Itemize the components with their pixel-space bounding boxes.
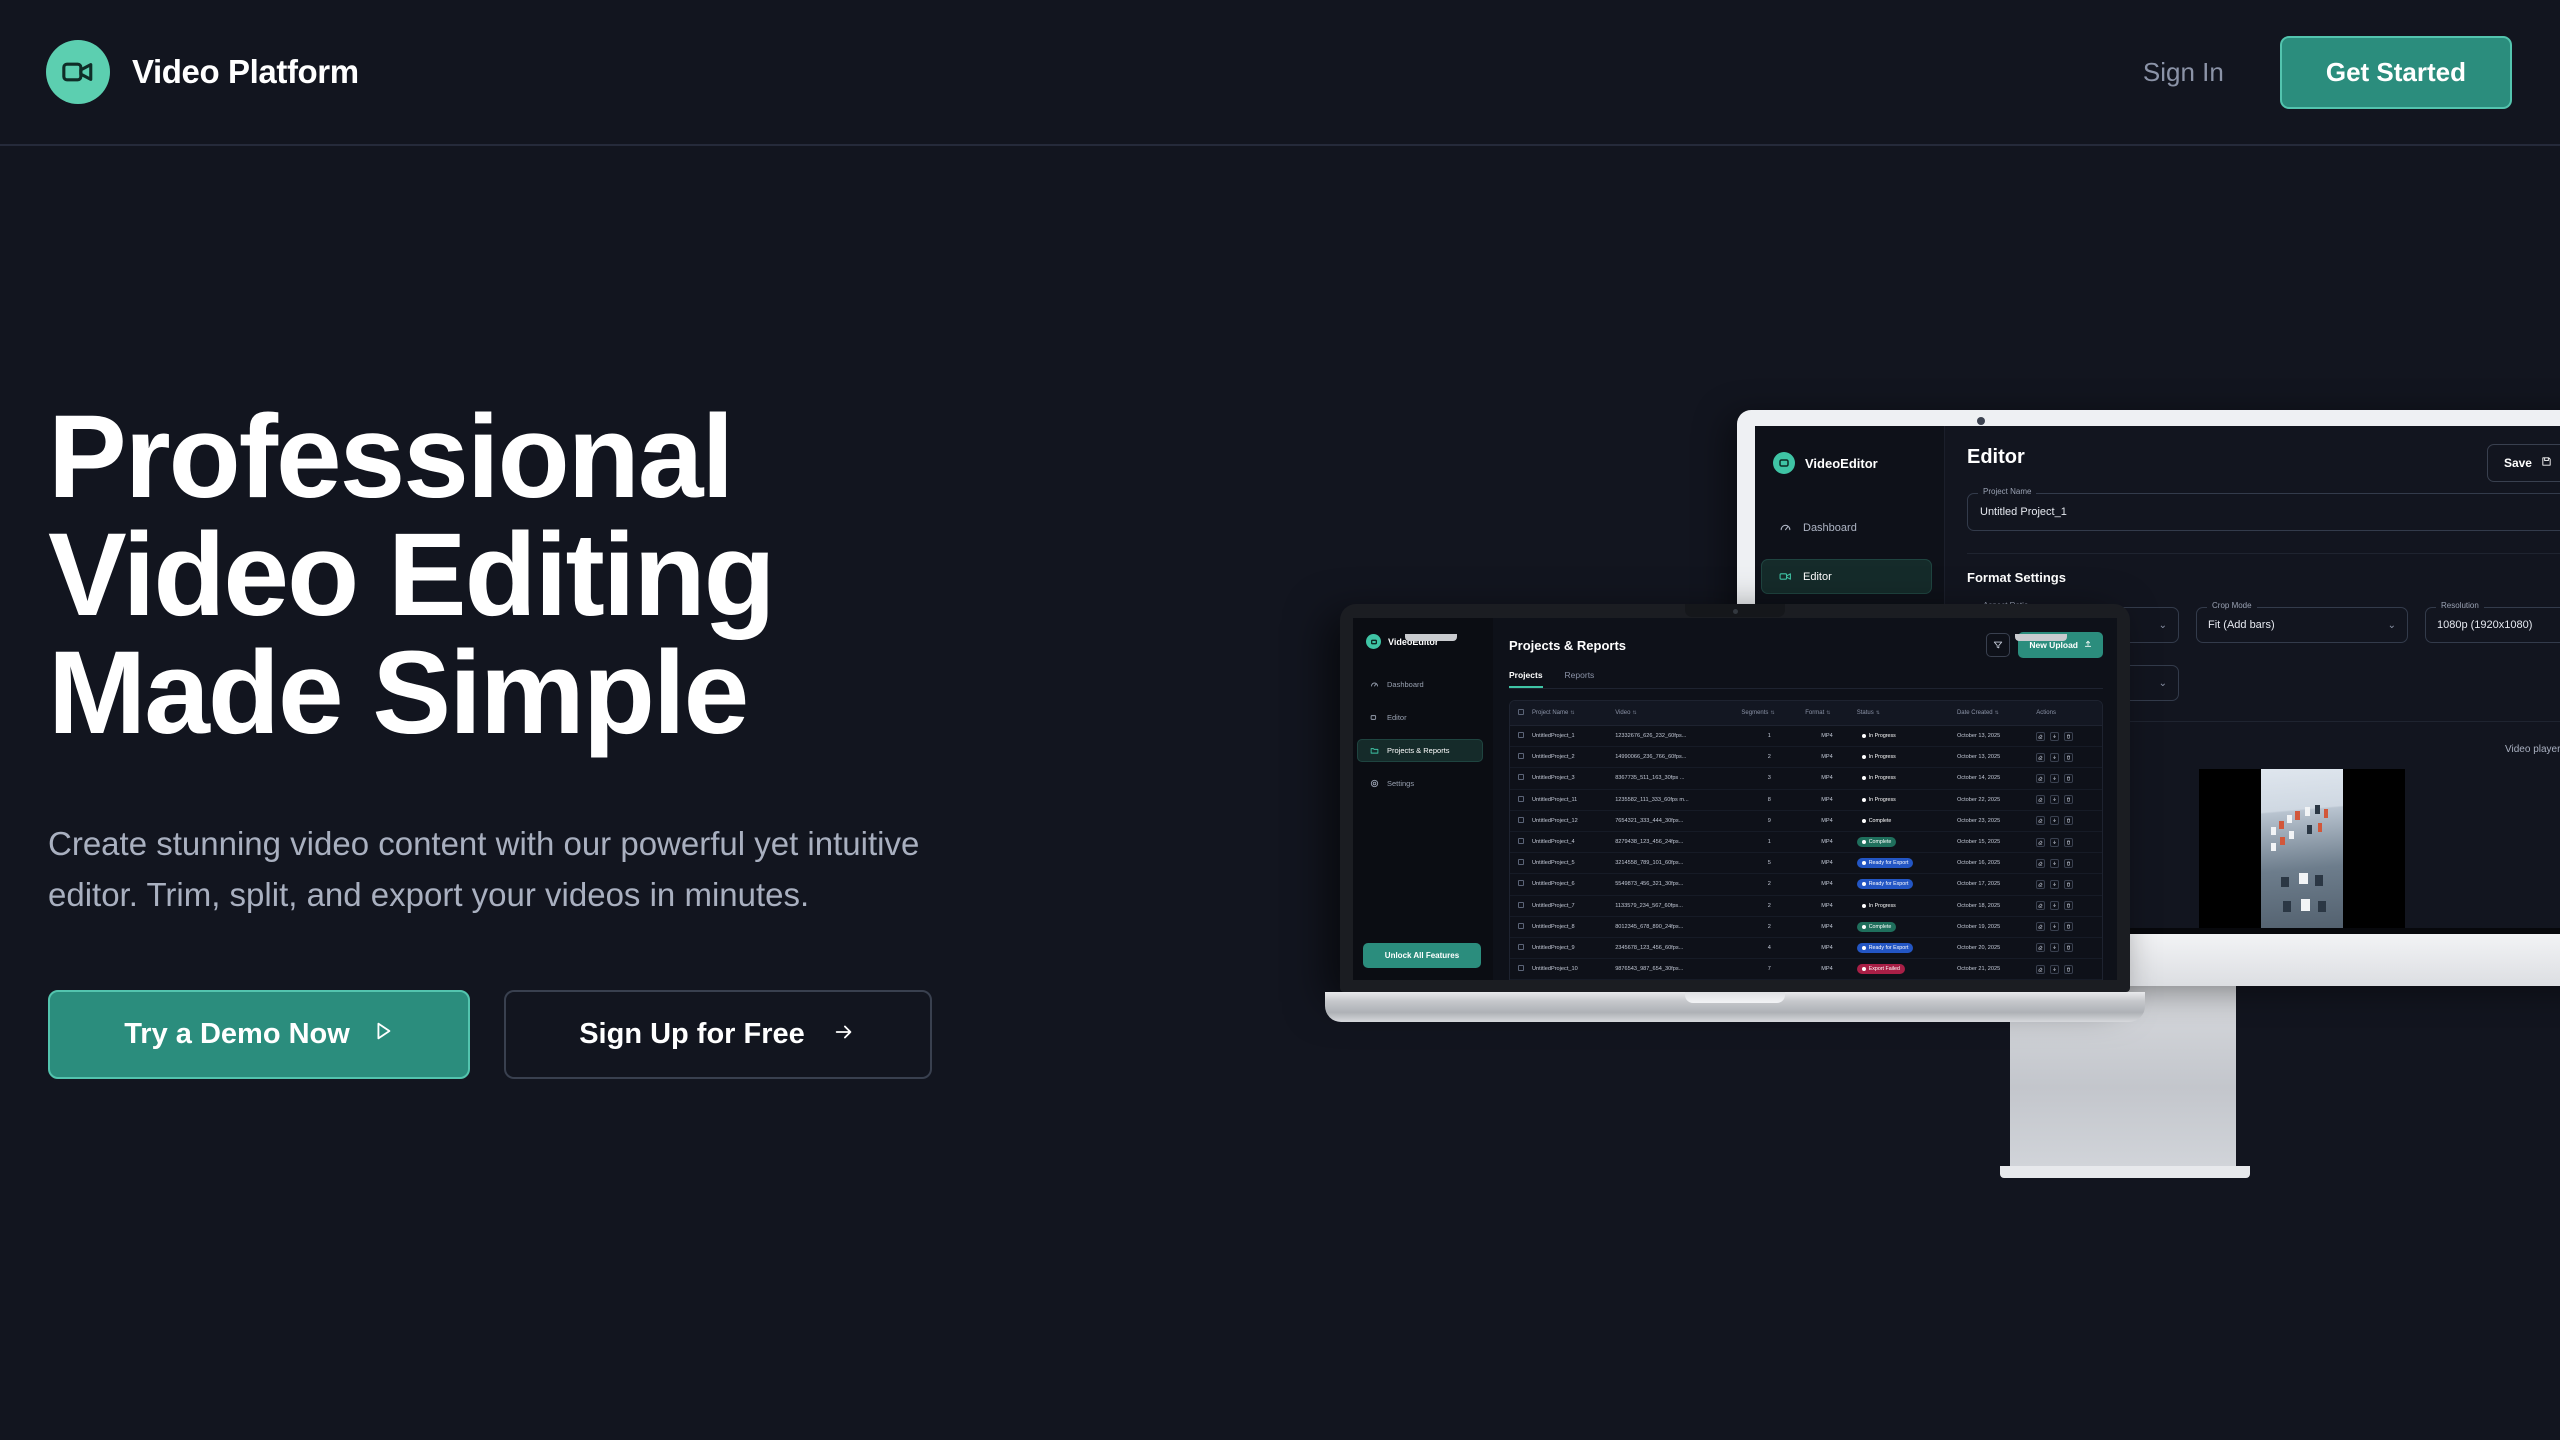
cell-status: In Progress: [1853, 895, 1953, 916]
status-label: In Progress: [1869, 733, 1896, 739]
video-camera-icon: [1370, 713, 1379, 722]
status-label: In Progress: [1869, 775, 1896, 781]
gear-icon: [1370, 779, 1379, 788]
row-checkbox[interactable]: [1510, 874, 1528, 895]
status-badge: In Progress: [1857, 773, 1901, 783]
delete-icon[interactable]: [2064, 795, 2073, 804]
row-checkbox[interactable]: [1510, 747, 1528, 768]
sort-icon: ⇅: [1826, 710, 1830, 716]
chevron-down-icon: ⌄: [2159, 620, 2167, 631]
cell-project-name: UntitledProject_9: [1528, 937, 1611, 958]
sidebar-item-editor[interactable]: Editor: [1761, 559, 1932, 594]
arrow-right-icon: [831, 1018, 857, 1051]
col-label: Format: [1805, 710, 1824, 716]
try-demo-button[interactable]: Try a Demo Now: [48, 990, 470, 1079]
status-dot-icon: [1862, 734, 1866, 738]
edit-icon[interactable]: [2036, 901, 2045, 910]
status-badge: In Progress: [1857, 901, 1901, 911]
upload-icon: [2084, 640, 2092, 650]
tab-projects[interactable]: Projects: [1509, 670, 1543, 688]
cell-status: Export Failed: [1853, 959, 1953, 980]
edit-icon[interactable]: [2036, 795, 2045, 804]
status-badge: In Progress: [1857, 795, 1901, 805]
delete-icon[interactable]: [2064, 816, 2073, 825]
download-icon[interactable]: [2050, 922, 2059, 931]
cell-date-created: October 18, 2025: [1953, 895, 2032, 916]
status-label: In Progress: [1869, 754, 1896, 760]
editor-page-title: Editor: [1967, 446, 2025, 469]
video-camera-icon: [1773, 452, 1795, 474]
cell-project-name: UntitledProject_7: [1528, 895, 1611, 916]
projects-table-wrapper: Project Name⇅ Video⇅ Segments⇅ Format⇅ S…: [1509, 700, 2103, 980]
cell-format: MP4: [1801, 874, 1852, 895]
download-icon[interactable]: [2050, 965, 2059, 974]
cell-status: In Progress: [1853, 747, 1953, 768]
checkbox-icon[interactable]: [1518, 796, 1524, 802]
checkbox-icon[interactable]: [1518, 859, 1524, 865]
laptop-feet: [1325, 634, 2145, 641]
laptop-base: [1325, 992, 2145, 1022]
cell-format: MP4: [1801, 916, 1852, 937]
monitor-camera-dot: [1977, 417, 1985, 425]
cell-video: 3214558_789_101_60fps...: [1611, 853, 1737, 874]
video-camera-icon: [46, 40, 110, 104]
col-label: Project Name: [1532, 710, 1568, 716]
checkbox-icon[interactable]: [1518, 944, 1524, 950]
cell-format: MP4: [1801, 768, 1852, 789]
checkbox-icon[interactable]: [1518, 880, 1524, 886]
checkbox-icon[interactable]: [1518, 774, 1524, 780]
crop-mode-value: Fit (Add bars): [2208, 619, 2275, 631]
row-checkbox[interactable]: [1510, 895, 1528, 916]
cell-actions: [2032, 895, 2102, 916]
cell-status: In Progress: [1853, 789, 1953, 810]
cell-status: Ready for Export: [1853, 937, 1953, 958]
delete-icon[interactable]: [2064, 732, 2073, 741]
checkbox-icon[interactable]: [1518, 902, 1524, 908]
edit-icon[interactable]: [2036, 859, 2045, 868]
table-row[interactable]: UntitledProject_92345678_123_456_60fps..…: [1510, 937, 2102, 958]
table-row[interactable]: UntitledProject_214990066_236_766_60fps.…: [1510, 747, 2102, 768]
status-dot-icon: [1862, 798, 1866, 802]
download-icon[interactable]: [2050, 774, 2059, 783]
col-actions: Actions: [2032, 701, 2102, 726]
cell-date-created: October 23, 2025: [1953, 810, 2032, 831]
table-row[interactable]: UntitledProject_38367735_511_163_30fps .…: [1510, 768, 2102, 789]
status-label: Complete: [1869, 924, 1892, 930]
cell-project-name: UntitledProject_10: [1528, 959, 1611, 980]
resolution-legend: Resolution: [2436, 601, 2484, 610]
col-date-created[interactable]: Date Created⇅: [1953, 701, 2032, 726]
delete-icon[interactable]: [2064, 880, 2073, 889]
editor-logo-text: VideoEditor: [1805, 456, 1878, 471]
cell-date-created: October 16, 2025: [1953, 853, 2032, 874]
floppy-disk-icon: [2541, 456, 2552, 470]
table-body: UntitledProject_112332676_626_232_60fps.…: [1510, 726, 2102, 981]
cell-video: 1133579_234_567_60fps...: [1611, 895, 1737, 916]
cell-project-name: UntitledProject_8: [1528, 916, 1611, 937]
status-label: In Progress: [1869, 797, 1896, 803]
status-badge: Complete: [1857, 816, 1897, 826]
sidebar-label: Dashboard: [1387, 680, 1424, 689]
cell-status: In Progress: [1853, 768, 1953, 789]
page-title: Professional Video Editing Made Simple: [48, 398, 1148, 752]
cell-date-created: October 14, 2025: [1953, 768, 2032, 789]
row-checkbox[interactable]: [1510, 937, 1528, 958]
sidebar-label: Editor: [1387, 713, 1407, 722]
status-dot-icon: [1862, 904, 1866, 908]
cell-segments: 2: [1737, 747, 1801, 768]
product-mockup: VideoEditor Dashboard Edi: [1340, 360, 2560, 1260]
cell-format: MP4: [1801, 747, 1852, 768]
section-divider: [1967, 553, 2560, 554]
cell-actions: [2032, 747, 2102, 768]
cell-format: MP4: [1801, 959, 1852, 980]
edit-icon[interactable]: [2036, 816, 2045, 825]
status-label: Export Failed: [1869, 966, 1900, 972]
table-row[interactable]: UntitledProject_48279438_123_456_24fps..…: [1510, 831, 2102, 852]
cell-segments: 1: [1737, 726, 1801, 747]
download-icon[interactable]: [2050, 795, 2059, 804]
sign-up-free-label: Sign Up for Free: [579, 1018, 805, 1051]
cell-date-created: October 20, 2025: [1953, 937, 2032, 958]
brand-name: Video Platform: [132, 53, 359, 91]
cell-format: MP4: [1801, 895, 1852, 916]
cell-actions: [2032, 874, 2102, 895]
editor-logo[interactable]: VideoEditor: [1755, 452, 1944, 474]
status-badge: Ready for Export: [1857, 943, 1914, 953]
editor-header: Editor: [1967, 446, 2560, 469]
cell-project-name: UntitledProject_11: [1528, 789, 1611, 810]
status-badge: In Progress: [1857, 731, 1901, 741]
status-label: In Progress: [1869, 903, 1896, 909]
sidebar-item-settings[interactable]: Settings: [1357, 772, 1483, 795]
cell-segments: 3: [1737, 768, 1801, 789]
cell-date-created: October 17, 2025: [1953, 874, 2032, 895]
edit-icon[interactable]: [2036, 774, 2045, 783]
sidebar-label: Dashboard: [1803, 522, 1857, 534]
cell-video: 8279438_123_456_24fps...: [1611, 831, 1737, 852]
save-button[interactable]: Save: [2487, 444, 2560, 482]
delete-icon[interactable]: [2064, 965, 2073, 974]
status-dot-icon: [1862, 819, 1866, 823]
cell-status: Ready for Export: [1853, 853, 1953, 874]
cell-segments: 9: [1737, 810, 1801, 831]
edit-icon[interactable]: [2036, 943, 2045, 952]
cell-actions: [2032, 937, 2102, 958]
download-icon[interactable]: [2050, 732, 2059, 741]
checkbox-icon[interactable]: [1518, 965, 1524, 971]
col-label: Actions: [2036, 710, 2056, 716]
download-icon[interactable]: [2050, 859, 2059, 868]
laptop-camera-dot: [1733, 609, 1738, 614]
checkbox-icon[interactable]: [1518, 838, 1524, 844]
projects-tabs: Projects Reports: [1509, 670, 2103, 689]
cell-date-created: October 22, 2025: [1953, 789, 2032, 810]
cell-segments: 1: [1737, 831, 1801, 852]
cell-segments: 5: [1737, 853, 1801, 874]
get-started-button[interactable]: Get Started: [2280, 36, 2512, 109]
cell-date-created: October 13, 2025: [1953, 726, 2032, 747]
col-select-all[interactable]: [1510, 701, 1528, 726]
checkbox-icon[interactable]: [1518, 709, 1524, 715]
status-badge: In Progress: [1857, 752, 1901, 762]
video-player-size-slider[interactable]: Video player size: [2505, 744, 2560, 755]
cell-actions: [2032, 810, 2102, 831]
edit-icon[interactable]: [2036, 838, 2045, 847]
cell-project-name: UntitledProject_4: [1528, 831, 1611, 852]
cell-date-created: October 19, 2025: [1953, 916, 2032, 937]
download-icon[interactable]: [2050, 901, 2059, 910]
row-checkbox[interactable]: [1510, 726, 1528, 747]
try-demo-label: Try a Demo Now: [124, 1018, 350, 1051]
col-project-name[interactable]: Project Name⇅: [1528, 701, 1611, 726]
delete-icon[interactable]: [2064, 859, 2073, 868]
row-checkbox[interactable]: [1510, 853, 1528, 874]
new-upload-label: New Upload: [2029, 640, 2078, 650]
cell-actions: [2032, 959, 2102, 980]
cell-segments: 2: [1737, 874, 1801, 895]
col-status[interactable]: Status⇅: [1853, 701, 1953, 726]
cell-format: MP4: [1801, 937, 1852, 958]
status-dot-icon: [1862, 840, 1866, 844]
sort-icon: ⇅: [1632, 710, 1636, 716]
cell-project-name: UntitledProject_5: [1528, 853, 1611, 874]
cell-actions: [2032, 916, 2102, 937]
status-label: Ready for Export: [1869, 860, 1909, 866]
cell-project-name: UntitledProject_2: [1528, 747, 1611, 768]
cell-video: 9876543_987_654_30fps...: [1611, 959, 1737, 980]
laptop-open-notch: [1685, 992, 1785, 1003]
cell-video: 2345678_123_456_60fps...: [1611, 937, 1737, 958]
cell-actions: [2032, 768, 2102, 789]
cell-actions: [2032, 789, 2102, 810]
row-checkbox[interactable]: [1510, 916, 1528, 937]
table-row[interactable]: UntitledProject_109876543_987_654_30fps.…: [1510, 959, 2102, 980]
status-badge: Ready for Export: [1857, 879, 1914, 889]
status-dot-icon: [1862, 861, 1866, 865]
resolution-select[interactable]: Resolution 1080p (1920x1080) ⌄: [2425, 607, 2560, 643]
cell-status: Complete: [1853, 810, 1953, 831]
cell-segments: 4: [1737, 937, 1801, 958]
format-settings-title: Format Settings: [1967, 570, 2560, 585]
delete-icon[interactable]: [2064, 838, 2073, 847]
editor-header-actions: Save Exp: [2487, 444, 2560, 482]
chevron-down-icon: ⌄: [2159, 678, 2167, 689]
cell-date-created: October 21, 2025: [1953, 959, 2032, 980]
table-row[interactable]: UntitledProject_53214558_789_101_60fps..…: [1510, 853, 2102, 874]
cell-format: MP4: [1801, 726, 1852, 747]
hero-cta-group: Try a Demo Now Sign Up for Free: [48, 990, 1148, 1079]
laptop-screen: VideoEditor Dashboard Edi: [1353, 618, 2117, 980]
status-dot-icon: [1862, 776, 1866, 780]
cell-project-name: UntitledProject_6: [1528, 874, 1611, 895]
cell-project-name: UntitledProject_1: [1528, 726, 1611, 747]
crop-mode-legend: Crop Mode: [2207, 601, 2257, 610]
play-triangle-icon: [372, 1018, 394, 1051]
col-label: Video: [1615, 710, 1630, 716]
download-icon[interactable]: [2050, 753, 2059, 762]
sort-icon: ⇅: [1995, 710, 1999, 716]
cell-format: MP4: [1801, 831, 1852, 852]
cell-video: 8012345_678_890_24fps...: [1611, 916, 1737, 937]
folder-icon: [1370, 746, 1379, 755]
col-format[interactable]: Format⇅: [1801, 701, 1852, 726]
sidebar-item-dashboard[interactable]: Dashboard: [1357, 673, 1483, 696]
delete-icon[interactable]: [2064, 943, 2073, 952]
row-checkbox[interactable]: [1510, 810, 1528, 831]
crop-mode-select[interactable]: Crop Mode Fit (Add bars) ⌄: [2196, 607, 2408, 643]
cell-video: 7654321_333_444_30fps...: [1611, 810, 1737, 831]
status-label: Complete: [1869, 839, 1892, 845]
sidebar-label: Settings: [1387, 779, 1414, 788]
edit-icon[interactable]: [2036, 753, 2045, 762]
gauge-icon: [1779, 521, 1792, 534]
status-dot-icon: [1862, 755, 1866, 759]
cell-video: 5549873_456_321_30fps...: [1611, 874, 1737, 895]
col-label: Status: [1857, 710, 1874, 716]
status-dot-icon: [1862, 925, 1866, 929]
cell-segments: 2: [1737, 895, 1801, 916]
cell-status: In Progress: [1853, 726, 1953, 747]
project-name-field[interactable]: Project Name Untitled Project_1: [1967, 493, 2560, 531]
table-row[interactable]: UntitledProject_65549873_456_321_30fps..…: [1510, 874, 2102, 895]
table-row[interactable]: UntitledProject_71133579_234_567_60fps..…: [1510, 895, 2102, 916]
table-row[interactable]: UntitledProject_112332676_626_232_60fps.…: [1510, 726, 2102, 747]
sort-icon: ⇅: [1876, 710, 1880, 716]
col-video[interactable]: Video⇅: [1611, 701, 1737, 726]
table-row[interactable]: UntitledProject_127654321_333_444_30fps.…: [1510, 810, 2102, 831]
project-name-value: Untitled Project_1: [1980, 506, 2067, 518]
cell-format: MP4: [1801, 810, 1852, 831]
cell-format: MP4: [1801, 853, 1852, 874]
cell-video: 8367735_511_163_30fps ...: [1611, 768, 1737, 789]
col-label: Date Created: [1957, 710, 1993, 716]
sort-icon: ⇅: [1770, 710, 1774, 716]
project-name-legend: Project Name: [1978, 487, 2036, 496]
header-nav: Sign In Get Started: [2143, 36, 2512, 109]
delete-icon[interactable]: [2064, 901, 2073, 910]
sidebar-item-dashboard[interactable]: Dashboard: [1761, 510, 1932, 545]
video-camera-icon: [1779, 570, 1792, 583]
edit-icon[interactable]: [2036, 965, 2045, 974]
checkbox-icon[interactable]: [1518, 732, 1524, 738]
sign-in-link[interactable]: Sign In: [2143, 57, 2224, 88]
preview-thumbnail: [2261, 769, 2343, 929]
cell-actions: [2032, 853, 2102, 874]
site-header: Video Platform Sign In Get Started: [0, 0, 2560, 146]
tab-reports[interactable]: Reports: [1565, 670, 1595, 688]
table-header-row: Project Name⇅ Video⇅ Segments⇅ Format⇅ S…: [1510, 701, 2102, 726]
row-checkbox[interactable]: [1510, 831, 1528, 852]
edit-icon[interactable]: [2036, 732, 2045, 741]
cell-segments: 7: [1737, 959, 1801, 980]
video-preview-frame: [2199, 769, 2405, 929]
status-label: Ready for Export: [1869, 881, 1909, 887]
delete-icon[interactable]: [2064, 922, 2073, 931]
status-badge: Ready for Export: [1857, 858, 1914, 868]
status-dot-icon: [1862, 946, 1866, 950]
download-icon[interactable]: [2050, 838, 2059, 847]
row-checkbox[interactable]: [1510, 959, 1528, 980]
gauge-icon: [1370, 680, 1379, 689]
cell-status: Ready for Export: [1853, 874, 1953, 895]
resolution-value: 1080p (1920x1080): [2437, 619, 2532, 631]
save-label: Save: [2504, 456, 2532, 470]
sign-up-free-button[interactable]: Sign Up for Free: [504, 990, 932, 1079]
cell-segments: 8: [1737, 789, 1801, 810]
row-checkbox[interactable]: [1510, 789, 1528, 810]
status-dot-icon: [1862, 882, 1866, 886]
status-label: Ready for Export: [1869, 945, 1909, 951]
status-dot-icon: [1862, 967, 1866, 971]
cell-date-created: October 13, 2025: [1953, 747, 2032, 768]
status-badge: Complete: [1857, 922, 1897, 932]
checkbox-icon[interactable]: [1518, 817, 1524, 823]
status-label: Complete: [1869, 818, 1892, 824]
brand-logo[interactable]: Video Platform: [46, 40, 359, 104]
download-icon[interactable]: [2050, 816, 2059, 825]
status-badge: Complete: [1857, 837, 1897, 847]
col-label: Segments: [1741, 710, 1768, 716]
delete-icon[interactable]: [2064, 774, 2073, 783]
projects-sidebar: VideoEditor Dashboard Edi: [1353, 618, 1493, 980]
sidebar-label: Projects & Reports: [1387, 746, 1450, 755]
cell-status: Complete: [1853, 831, 1953, 852]
download-icon[interactable]: [2050, 880, 2059, 889]
cell-segments: 2: [1737, 916, 1801, 937]
projects-table: Project Name⇅ Video⇅ Segments⇅ Format⇅ S…: [1510, 701, 2102, 980]
cell-actions: [2032, 726, 2102, 747]
cell-video: 12332676_626_232_60fps...: [1611, 726, 1737, 747]
cell-project-name: UntitledProject_3: [1528, 768, 1611, 789]
delete-icon[interactable]: [2064, 753, 2073, 762]
checkbox-icon[interactable]: [1518, 753, 1524, 759]
table-row[interactable]: UntitledProject_88012345_678_890_24fps..…: [1510, 916, 2102, 937]
landing-page: Video Platform Sign In Get Started Profe…: [0, 0, 2560, 1440]
unlock-all-features-button[interactable]: Unlock All Features: [1363, 943, 1481, 968]
table-head: Project Name⇅ Video⇅ Segments⇅ Format⇅ S…: [1510, 701, 2102, 726]
laptop-lid: VideoEditor Dashboard Edi: [1340, 604, 2130, 992]
projects-main: Projects & Reports New Upload: [1493, 618, 2117, 980]
cell-video: 14990066_236_766_60fps...: [1611, 747, 1737, 768]
cell-video: 1235582_111_333_60fps m...: [1611, 789, 1737, 810]
hero-subtitle: Create stunning video content with our p…: [48, 818, 1138, 920]
cell-date-created: October 15, 2025: [1953, 831, 2032, 852]
table-row[interactable]: UntitledProject_111235582_111_333_60fps …: [1510, 789, 2102, 810]
edit-icon[interactable]: [2036, 880, 2045, 889]
sidebar-item-editor[interactable]: Editor: [1357, 706, 1483, 729]
hero-content: Professional Video Editing Made Simple C…: [48, 398, 1148, 1079]
laptop-mockup: VideoEditor Dashboard Edi: [1340, 604, 2130, 1022]
cell-project-name: UntitledProject_12: [1528, 810, 1611, 831]
cell-actions: [2032, 831, 2102, 852]
sort-icon: ⇅: [1570, 710, 1574, 716]
sidebar-label: Editor: [1803, 571, 1832, 583]
monitor-stand-foot: [2000, 1166, 2250, 1178]
row-checkbox[interactable]: [1510, 768, 1528, 789]
sidebar-item-projects-reports[interactable]: Projects & Reports: [1357, 739, 1483, 762]
chevron-down-icon: ⌄: [2388, 620, 2396, 631]
slider-label: Video player size: [2505, 744, 2560, 755]
cell-format: MP4: [1801, 789, 1852, 810]
download-icon[interactable]: [2050, 943, 2059, 952]
checkbox-icon[interactable]: [1518, 923, 1524, 929]
cell-status: Complete: [1853, 916, 1953, 937]
col-segments[interactable]: Segments⇅: [1737, 701, 1801, 726]
edit-icon[interactable]: [2036, 922, 2045, 931]
status-badge: Export Failed: [1857, 964, 1905, 974]
